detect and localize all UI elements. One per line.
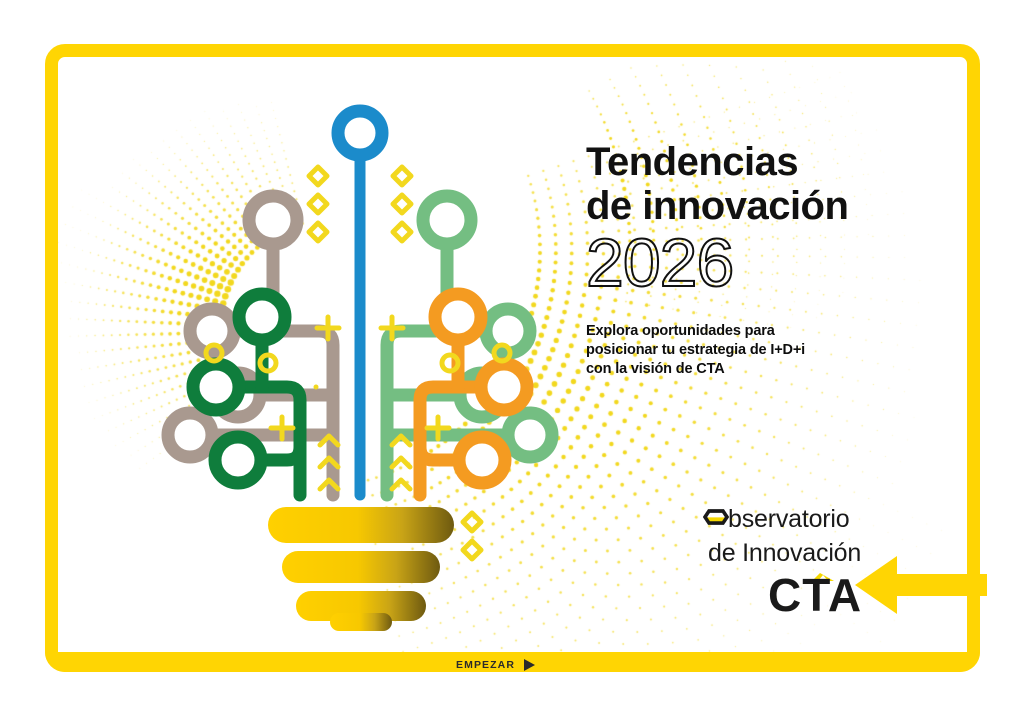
title-block: Tendenciasde innovación 2026 Explora opo… xyxy=(586,140,926,379)
slide-canvas: Tendenciasde innovación 2026 Explora opo… xyxy=(0,0,1024,724)
observatorio-cta-logo: bservatorio de Innovación CTA xyxy=(700,505,880,615)
play-triangle-icon xyxy=(524,659,535,671)
year-outline: 2026 xyxy=(586,230,836,300)
cta-text: CTA xyxy=(768,569,862,615)
logo-line-2: de Innovación xyxy=(708,539,861,568)
arrow-left-head xyxy=(855,556,897,614)
arrow-left-bar xyxy=(891,574,987,596)
page-subtitle: Explora oportunidades para posicionar tu… xyxy=(586,322,926,379)
start-button-label: EMPEZAR xyxy=(456,659,515,671)
start-button[interactable]: EMPEZAR xyxy=(456,656,568,673)
hexagon-o-icon xyxy=(703,507,729,533)
circuit-lightbulb-illustration xyxy=(150,95,570,635)
bulb-base xyxy=(268,507,454,631)
page-title: Tendenciasde innovación xyxy=(586,140,926,228)
title-line-2: de innovación xyxy=(586,184,848,228)
year-text: 2026 xyxy=(586,230,733,300)
logo-line-1: bservatorio xyxy=(728,505,849,534)
arrow-left-icon[interactable] xyxy=(855,556,985,614)
title-line-1: Tendencias xyxy=(586,140,798,184)
